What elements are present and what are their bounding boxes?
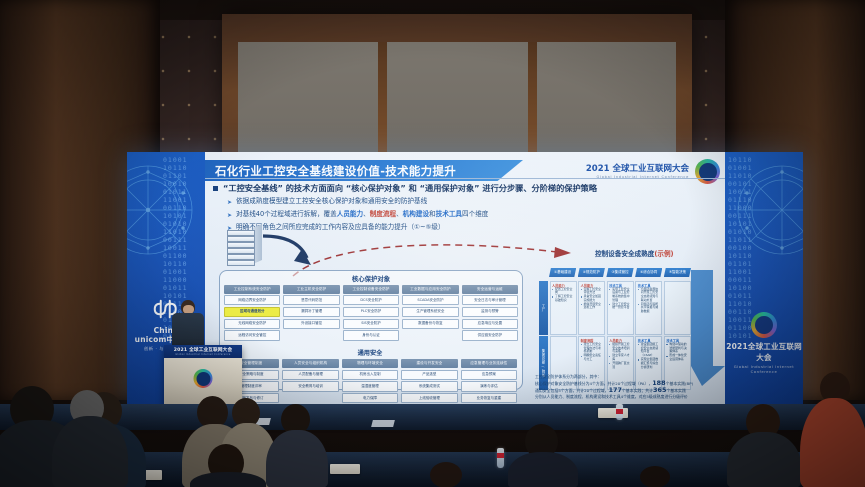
speaker-person (172, 300, 204, 350)
matrix-column-header: 安全运营与运维 (462, 285, 518, 294)
matrix-cell: SCADA安全防护 (402, 295, 458, 305)
matrix-column-header: 工业控制设备安全防护 (343, 285, 399, 294)
general-security-columns: 安全管理制度安全策略与制度管理制度评审制度发布与修订人员安全与组织机构人员配备与… (219, 359, 521, 403)
matrix-column-header: 建设与开发安全 (401, 359, 457, 368)
audience-person-red (800, 398, 865, 487)
matrix-cell: 安全教育与培训 (282, 381, 338, 391)
matrix-column-header: 物理与环境安全 (342, 359, 398, 368)
audience-head (640, 466, 670, 487)
maturity-row-label: 工厂 (539, 281, 548, 335)
footnote-l3d: 365 (653, 386, 666, 394)
matrix-cell: 远程访问安全管控 (224, 330, 280, 340)
bullet-square-icon (213, 186, 218, 191)
matrix-cell: 网络边界安全防护 (224, 295, 280, 305)
sub-bullet: ➤依据成熟度模型建立工控安全核心保护对象和通用安全的防护基线 (227, 197, 717, 208)
maturity-cell: 人员能力掌握工控安全评估方法具备安全加固实施能力能够开展安全巡检工作 (578, 281, 605, 335)
maturity-cell-item: 与集团总部协同开展工控安全态势感知与联动处置 (638, 288, 660, 303)
name-card (598, 408, 628, 418)
matrix-cell: 外设接口管控 (283, 319, 339, 329)
matrix-cell: 生产管理系统安全 (402, 307, 458, 317)
water-bottle (497, 448, 504, 468)
footnote-line4: 分别从人员能力、制度流程、机构建设和技术工具4个维度，对应5级成熟度进行分级评价 (535, 394, 717, 400)
big-blue-arrow-icon (691, 270, 725, 386)
maturity-cell-item: 形成一体化安全运营体系 (666, 354, 688, 362)
matrix-column: 人员安全与组织机构人员配备与管理安全教育与培训 (282, 359, 338, 403)
audience-person (266, 430, 328, 487)
matrix-cell: 电力保障 (342, 393, 398, 403)
water-bottle (616, 404, 623, 420)
maturity-cell-item: 同集团与院所共享情报与威胁数据 (638, 303, 660, 314)
matrix-column: 物理与环境安全机房出入控制温湿度管理电力保障 (342, 359, 398, 403)
bullet-list: “工控安全基线” 的技术方面面向 “核心保护对象” 和 “通用保护对象” 进行分… (213, 183, 717, 233)
matrix-cell: 应急预案 (461, 370, 517, 380)
slide-conference-logo: 2021 全球工业互联网大会 Global Industrial Interne… (586, 162, 689, 179)
slide-title: 石化行业工控安全基线建设价值-技术能力提升 (215, 163, 456, 179)
podium-emblem-icon (194, 369, 213, 388)
matrix-cell: 机房出入控制 (342, 370, 398, 380)
podium: 2021 全球工业互联网大会 Global Industrial Interne… (164, 345, 242, 407)
footnote-l2a: 核心保护对象安全防护基线分为4个方面，共计20个过程域（PA）， (535, 381, 652, 386)
maturity-cell-item: 了解工控安全基础知识 (552, 295, 574, 303)
maturity-level-header: ③集成管控 (606, 268, 633, 277)
table-cloth (0, 404, 865, 430)
maturity-level-header: ①基础建设 (549, 268, 576, 277)
sub-bullet-arrow-icon: ➤ (227, 211, 232, 221)
main-bullet: “工控安全基线” 的技术方面面向 “核心保护对象” 和 “通用保护对象” 进行分… (213, 183, 717, 194)
matrix-cell: 业务恢复与重建 (461, 393, 517, 403)
maturity-cell (664, 281, 691, 335)
general-security-block: 通用安全 安全管理制度安全策略与制度管理制度评审制度发布与修订人员安全与组织机构… (219, 348, 521, 408)
matrix-cell: 系统集成测试 (401, 381, 457, 391)
maturity-caption: 控制设备安全成熟度(示例) (595, 248, 674, 258)
conf-title-en: Global Industrial Internet Conference (725, 364, 803, 374)
matrix-cell: 产品选型 (401, 370, 457, 380)
maturity-level-header: ②规范防护 (578, 268, 605, 277)
conference-photo: 01001 10110 01101 10010 01011 11001 0011… (0, 0, 865, 487)
matrix-column: 安全运营与运维安全日志与审计管理监测与预警应急响应与处置供应链安全防护 (462, 285, 518, 341)
audience-person (52, 416, 128, 487)
matrix-cell: 人员配备与管理 (282, 370, 338, 380)
footnote-l3e: 个基本实践 (666, 388, 685, 393)
maturity-level-header: ④综合协同 (635, 268, 662, 277)
conf-title-cn: 2021全球工业互联网大会 (725, 341, 803, 363)
matrix-column-header: 人员安全与组织机构 (282, 359, 338, 368)
maturity-cell-item: 明确安全责任与分工 (581, 354, 603, 362)
front-table-row (0, 404, 865, 430)
matrix-column: 工业主机安全防护恶意代码防范漏洞补丁管理外设接口管控 (283, 285, 339, 341)
maturity-cell-item: 能够开展安全巡检工作 (581, 303, 603, 311)
footnote-line2: 核心保护对象安全防护基线分为4个方面，共计20个过程域（PA），188个基本实践… (535, 380, 717, 387)
screen-right-banner: 10110 01001 11010 00101 10011 01110 1100… (725, 152, 803, 404)
matrix-column-header: 工业主机安全防护 (283, 285, 339, 294)
maturity-cell: 技术工具与集团总部协同开展工控安全态势感知与联动处置同集团与院所共享情报与威胁数… (635, 281, 662, 335)
matrix-cell: DCS安全防护 (343, 295, 399, 305)
name-card (330, 464, 360, 474)
audience-person (508, 452, 578, 487)
matrix-column: 工业控制设备安全防护DCS安全防护PLC安全防护SIS安全防护身份与认证 (343, 285, 399, 341)
core-matrix-columns: 工业控制系统安全防护网络边界安全防护区域与通道划分无线网络安全防护远程访问安全管… (220, 285, 522, 341)
paper-sheet (371, 420, 395, 427)
slide-logo-ring-icon (695, 159, 720, 184)
sub-bullet-text: 对基线40个过程域进行拆解，覆盖人员能力、制度流程、机构建设和技术工具四个维度 (236, 210, 488, 221)
matrix-cell: 演练与评估 (461, 381, 517, 391)
maturity-caption-tag: (示例) (654, 250, 673, 258)
maturity-row: 人员能力配置工控安全岗了解工控安全基础知识人员能力掌握工控安全评估方法具备安全加… (550, 281, 692, 335)
matrix-column-header: 应急管理与业务连续性 (461, 359, 517, 368)
footnote-l2c: 个基本实践(BP) (666, 381, 694, 386)
maturity-cell: 技术工具实现工控安全设备与工业控制系统的集中管理建立工控安全统一管控平台 (607, 281, 634, 335)
presentation-slide: 石化行业工控安全基线建设价值-技术能力提升 2021 全球工业互联网大会 Glo… (205, 152, 725, 404)
slide-footnote: 工控安全防护体系分为两部分，其中： 核心保护对象安全防护基线分为4个方面，共计2… (535, 374, 717, 400)
podium-banner-en: Global Industrial Internet Conference (175, 353, 230, 356)
maturity-cell-item: 实现工控安全设备与工业控制系统的集中管理 (609, 288, 631, 303)
matrix-cell: 漏洞补丁管理 (283, 307, 339, 317)
matrix-cell: 身份与认证 (343, 330, 399, 340)
slide-logo-line1: 2021 全球工业互联网大会 (586, 162, 689, 174)
podium-banner: 2021 全球工业互联网大会 Global Industrial Interne… (164, 345, 242, 358)
matrix-cell: SIS安全防护 (343, 319, 399, 329)
matrix-column: 建设与开发安全产品选型系统集成测试上线验收管理 (401, 359, 457, 403)
matrix-cell-highlighted: 区域与通道划分 (224, 307, 280, 317)
maturity-cell-item: 建立工控安全统一管控平台 (609, 303, 631, 311)
footnote-l3b: 177 (609, 386, 622, 394)
footnote-line3: 通用安全包括5个方面，共计20个过程域，177个基本实践；共计365个基本实践 (535, 387, 717, 394)
unicom-en-2: unicom (135, 335, 167, 344)
maturity-cell-item: 开展跨厂区交流 (609, 362, 631, 370)
footnote-l3a: 通用安全包括5个方面，共计20个过程域， (535, 388, 609, 393)
matrix-column: 工业控制系统安全防护网络边界安全防护区域与通道划分无线网络安全防护远程访问安全管… (224, 285, 280, 341)
matrix-cell: 上线验收管理 (401, 393, 457, 403)
audience-person (190, 472, 266, 487)
maturity-cell-item: 建设集团级工控安全态势感知平台（CSAP） (638, 343, 660, 358)
maturity-cell-item: 实现全集团数据汇聚与综合分析研判 (638, 358, 660, 369)
footnote-l3c: 个基本实践；共计 (622, 388, 653, 393)
matrix-column-header: 工业数据与应用安全防护 (402, 285, 458, 294)
matrix-column: 工业数据与应用安全防护SCADA安全防护生产管理系统安全数据备份与恢复 (402, 285, 458, 341)
sub-bullet: ➤对基线40个过程域进行拆解，覆盖人员能力、制度流程、机构建设和技术工具四个维度 (227, 210, 717, 221)
matrix-cell: 监测与预警 (462, 307, 518, 317)
matrix-cell: 应急响应与处置 (462, 319, 518, 329)
maturity-level-header: ⑤智能决策 (664, 268, 691, 277)
matrix-cell: 安全日志与审计管理 (462, 295, 518, 305)
audience-person (727, 432, 801, 487)
header-divider (205, 178, 725, 179)
matrix-cell: PLC安全防护 (343, 307, 399, 317)
matrix-cell: 数据备份与恢复 (402, 319, 458, 329)
matrix-cell: 供应链安全防护 (462, 330, 518, 340)
matrix-column-header: 工业控制系统安全防护 (224, 285, 280, 294)
maturity-model-table: ①基础建设②规范防护③集成管控④综合协同⑤智能决策 工厂集团总部 / 院所 人员… (535, 264, 713, 392)
sub-bullet-text: 依据成熟度模型建立工控安全核心保护对象和通用安全的防护基线 (236, 197, 427, 208)
main-bullet-text: “工控安全基线” 的技术方面面向 “核心保护对象” 和 “通用保护对象” 进行分… (223, 183, 597, 194)
matrix-column: 应急管理与业务连续性应急预案演练与评估业务恢复与重建 (461, 359, 517, 403)
matrix-cell: 恶意代码防范 (283, 295, 339, 305)
maturity-caption-text: 控制设备安全成熟度 (595, 250, 654, 258)
sub-bullet-container: ➤依据成熟度模型建立工控安全核心保护对象和通用安全的防护基线➤对基线40个过程域… (213, 197, 717, 234)
audience-head (430, 462, 462, 487)
conference-ring-icon (751, 312, 777, 338)
matrix-cell: 无线网络安全防护 (224, 319, 280, 329)
sub-bullet-arrow-icon: ➤ (227, 198, 232, 208)
conference-badge-right: 2021全球工业互联网大会 Global Industrial Internet… (725, 312, 803, 374)
maturity-cell: 人员能力配置工控安全岗了解工控安全基础知识 (550, 281, 577, 335)
core-matrix-title: 核心保护对象 (220, 274, 522, 283)
slide-header: 石化行业工控安全基线建设价值-技术能力提升 2021 全球工业互联网大会 Glo… (205, 158, 725, 184)
maturity-level-headers: ①基础建设②规范防护③集成管控④综合协同⑤智能决策 (549, 268, 691, 277)
matrix-cell: 温湿度管理 (342, 381, 398, 391)
general-security-title: 通用安全 (219, 348, 521, 357)
